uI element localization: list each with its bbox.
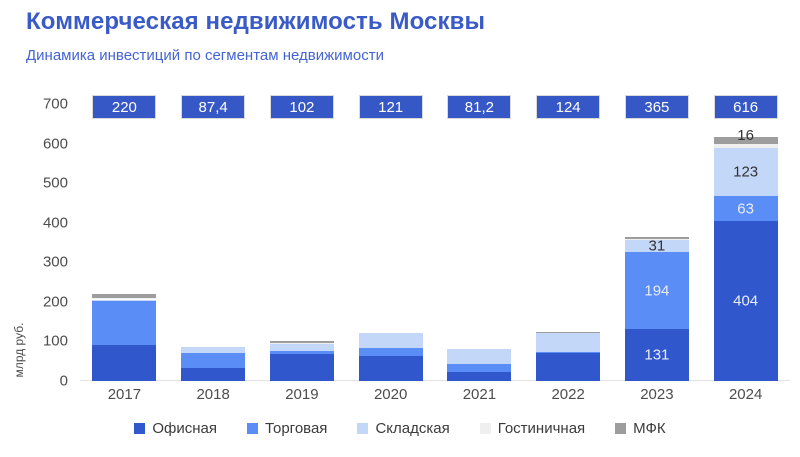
total-label-box: 81,2 xyxy=(447,95,511,119)
total-label-text: 121 xyxy=(378,99,403,116)
bar-group[interactable] xyxy=(181,104,245,381)
legend-label: Офисная xyxy=(152,420,217,437)
legend-item[interactable]: МФК xyxy=(615,420,665,437)
total-label-text: 87,4 xyxy=(199,99,228,116)
legend-item[interactable]: Офисная xyxy=(134,420,217,437)
legend-swatch-icon xyxy=(357,423,368,434)
bar-segment-label: 16 xyxy=(714,128,778,143)
chart-container: Коммерческая недвижимость Москвы Динамик… xyxy=(0,0,800,457)
legend-label: Торговая xyxy=(265,420,327,437)
bar-segment[interactable] xyxy=(359,356,423,381)
bar-segment[interactable] xyxy=(714,144,778,148)
bar-segment[interactable] xyxy=(447,349,511,364)
bar-group[interactable] xyxy=(536,104,600,381)
bar-segment[interactable] xyxy=(270,343,334,344)
total-label-box: 121 xyxy=(359,95,423,119)
bar-segment[interactable] xyxy=(92,298,156,300)
total-label-box: 365 xyxy=(625,95,689,119)
legend-label: Складская xyxy=(375,420,449,437)
x-axis-label: 2020 xyxy=(374,386,407,403)
x-axis-label: 2024 xyxy=(729,386,762,403)
bar-segment[interactable]: 123 xyxy=(714,148,778,197)
page-subtitle: Динамика инвестиций по сегментам недвижи… xyxy=(26,47,384,64)
bar-segment[interactable] xyxy=(536,333,600,352)
legend-label: МФК xyxy=(633,420,665,437)
x-axis-label: 2019 xyxy=(285,386,318,403)
bar-segment-label: 131 xyxy=(625,348,689,363)
bar-segment[interactable] xyxy=(536,353,600,381)
bar-segment-label: 31 xyxy=(625,239,689,254)
bar-segment[interactable]: 131 xyxy=(625,329,689,381)
y-axis-tick: 700 xyxy=(43,96,68,113)
legend-swatch-icon xyxy=(247,423,258,434)
bar-segment[interactable] xyxy=(625,237,689,239)
total-label-text: 102 xyxy=(289,99,314,116)
plot-area: 22087,410212181,212413119431365404631231… xyxy=(80,104,790,381)
bar-segment[interactable]: 16 xyxy=(714,137,778,143)
bar-segment[interactable] xyxy=(270,351,334,354)
x-axis-label: 2022 xyxy=(551,386,584,403)
legend-swatch-icon xyxy=(615,423,626,434)
y-axis-tick: 400 xyxy=(43,214,68,231)
y-axis-tick: 500 xyxy=(43,175,68,192)
bar-segment[interactable] xyxy=(270,341,334,343)
y-axis-tick: 600 xyxy=(43,135,68,152)
bar-group[interactable]: 13119431 xyxy=(625,104,689,381)
total-label-text: 124 xyxy=(556,99,581,116)
bar-segment[interactable] xyxy=(181,347,245,354)
bar-group[interactable] xyxy=(447,104,511,381)
bar-group[interactable] xyxy=(359,104,423,381)
bar-segment[interactable]: 31 xyxy=(625,240,689,252)
bar-group[interactable] xyxy=(270,104,334,381)
chart-legend: ОфиснаяТорговаяСкладскаяГостиничнаяМФК xyxy=(0,420,800,437)
bar-segment-label: 123 xyxy=(714,164,778,179)
total-label-box: 87,4 xyxy=(181,95,245,119)
legend-item[interactable]: Торговая xyxy=(247,420,327,437)
y-axis-ticks: 0100200300400500600700 xyxy=(0,104,68,381)
total-label-text: 81,2 xyxy=(465,99,494,116)
bar-segment[interactable] xyxy=(536,352,600,353)
total-label-box: 102 xyxy=(270,95,334,119)
x-axis-label: 2021 xyxy=(463,386,496,403)
total-label-text: 365 xyxy=(644,99,669,116)
y-axis-tick: 0 xyxy=(60,373,68,390)
bar-group[interactable]: 4046312316 xyxy=(714,104,778,381)
y-axis-tick: 300 xyxy=(43,254,68,271)
legend-swatch-icon xyxy=(480,423,491,434)
x-axis-label: 2018 xyxy=(196,386,229,403)
legend-swatch-icon xyxy=(134,423,145,434)
x-axis-label: 2023 xyxy=(640,386,673,403)
x-axis-label: 2017 xyxy=(108,386,141,403)
bar-segment[interactable]: 194 xyxy=(625,252,689,329)
bar-segment[interactable] xyxy=(625,239,689,241)
total-label-text: 220 xyxy=(112,99,137,116)
bar-segment[interactable] xyxy=(92,294,156,298)
bar-group[interactable] xyxy=(92,104,156,381)
bar-segment-label: 404 xyxy=(714,294,778,309)
bar-segment[interactable] xyxy=(270,354,334,381)
bar-segment[interactable] xyxy=(359,348,423,357)
legend-item[interactable]: Складская xyxy=(357,420,449,437)
bar-segment[interactable] xyxy=(181,368,245,381)
total-label-box: 124 xyxy=(536,95,600,119)
bar-segment[interactable] xyxy=(181,353,245,368)
bar-segment[interactable] xyxy=(447,372,511,381)
legend-item[interactable]: Гостиничная xyxy=(480,420,585,437)
bar-segment-label: 194 xyxy=(625,283,689,298)
bar-segment[interactable] xyxy=(92,345,156,381)
bar-segment-label: 63 xyxy=(714,201,778,216)
bar-segment[interactable]: 63 xyxy=(714,196,778,221)
bar-segment[interactable] xyxy=(359,333,423,348)
total-label-text: 616 xyxy=(733,99,758,116)
x-axis-labels: 20172018201920202021202220232024 xyxy=(80,386,790,408)
bar-segment[interactable] xyxy=(92,300,156,302)
total-label-box: 616 xyxy=(714,95,778,119)
y-axis-label: млрд руб. xyxy=(12,315,26,385)
bar-segment[interactable] xyxy=(270,344,334,351)
legend-label: Гостиничная xyxy=(498,420,585,437)
bar-segment[interactable]: 404 xyxy=(714,221,778,381)
bar-segment[interactable] xyxy=(447,364,511,373)
page-title: Коммерческая недвижимость Москвы xyxy=(26,8,485,36)
total-label-box: 220 xyxy=(92,95,156,119)
bar-segment[interactable] xyxy=(92,301,156,345)
y-axis-tick: 100 xyxy=(43,333,68,350)
y-axis-tick: 200 xyxy=(43,293,68,310)
bar-segment[interactable] xyxy=(536,332,600,333)
